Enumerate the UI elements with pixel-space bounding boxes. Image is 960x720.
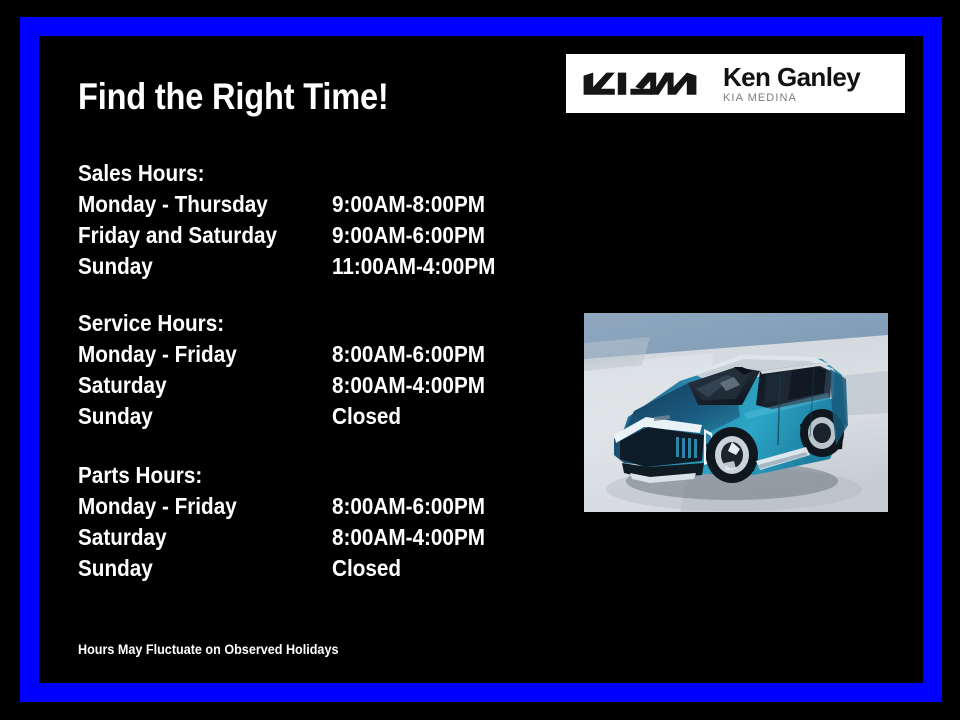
hours-row: Sunday Closed	[78, 401, 240, 432]
hours-time: 11:00AM-4:00PM	[332, 251, 495, 282]
kia-ev9-concept-suv-photo	[584, 313, 888, 512]
hours-days: Monday - Friday	[78, 491, 237, 522]
hours-time: 8:00AM-6:00PM	[332, 339, 485, 370]
hours-row: Friday and Saturday 9:00AM-6:00PM	[78, 220, 219, 251]
service-hours-block: Service Hours: Monday - Friday 8:00AM-6:…	[78, 308, 240, 432]
hours-time: 9:00AM-6:00PM	[332, 220, 485, 251]
kia-logo-icon	[579, 69, 701, 99]
hours-days: Saturday	[78, 522, 167, 553]
hours-time: 8:00AM-4:00PM	[332, 370, 485, 401]
hours-days: Friday and Saturday	[78, 220, 277, 251]
hours-row: Saturday 8:00AM-4:00PM	[78, 522, 216, 553]
parts-hours-block: Parts Hours: Monday - Friday 8:00AM-6:00…	[78, 460, 216, 584]
hours-days: Monday - Thursday	[78, 189, 268, 220]
dealer-logo-text: Ken Ganley KIA MEDINA	[723, 64, 860, 104]
hours-days: Sunday	[78, 401, 153, 432]
holiday-disclaimer: Hours May Fluctuate on Observed Holidays	[78, 640, 338, 658]
hours-row: Monday - Friday 8:00AM-6:00PM	[78, 491, 216, 522]
hours-days: Saturday	[78, 370, 167, 401]
dealer-name: Ken Ganley	[723, 64, 860, 91]
hours-time: 8:00AM-6:00PM	[332, 491, 485, 522]
sales-hours-block: Sales Hours: Monday - Thursday 9:00AM-8:…	[78, 158, 219, 282]
section-heading-service: Service Hours:	[78, 308, 224, 339]
hours-slide: Find the Right Time! Sales Hours: Monday…	[0, 0, 960, 720]
hours-row: Sunday Closed	[78, 553, 216, 584]
hours-days: Sunday	[78, 553, 153, 584]
hours-time: Closed	[332, 553, 401, 584]
hours-row: Saturday 8:00AM-4:00PM	[78, 370, 240, 401]
hours-days: Sunday	[78, 251, 153, 282]
hours-row: Monday - Thursday 9:00AM-8:00PM	[78, 189, 219, 220]
dealer-subtitle: KIA MEDINA	[723, 92, 860, 104]
section-heading-sales: Sales Hours:	[78, 158, 205, 189]
hours-time: Closed	[332, 401, 401, 432]
dealer-logo-plate: Ken Ganley KIA MEDINA	[566, 54, 905, 113]
hours-time: 9:00AM-8:00PM	[332, 189, 485, 220]
hours-row: Sunday 11:00AM-4:00PM	[78, 251, 219, 282]
page-title: Find the Right Time!	[78, 76, 389, 118]
hours-days: Monday - Friday	[78, 339, 237, 370]
hours-row: Monday - Friday 8:00AM-6:00PM	[78, 339, 240, 370]
section-heading-parts: Parts Hours:	[78, 460, 202, 491]
hours-time: 8:00AM-4:00PM	[332, 522, 485, 553]
